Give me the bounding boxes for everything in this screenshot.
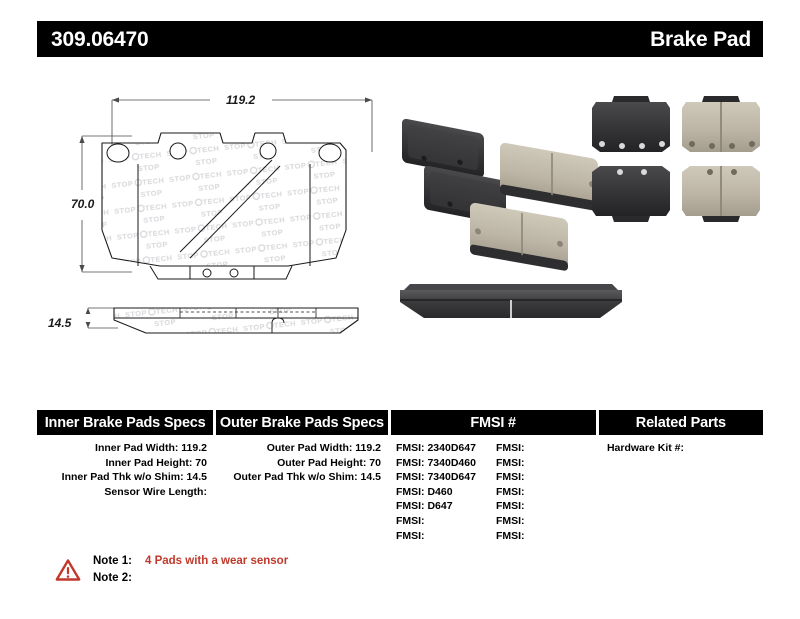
table-header-fmsi: FMSI # [391,410,596,435]
spec-item: Outer Pad Height: 70 [216,456,387,471]
note-2: Note 2: [93,570,288,587]
note-2-label: Note 2: [93,570,145,587]
part-number: 309.06470 [51,29,148,50]
thickness-dimension-label: 14.5 [45,316,74,330]
fmsi-item: FMSI: [496,441,596,456]
drawing-svg: STOP TECH STOP [40,80,390,370]
fmsi-item: FMSI: D647 [396,499,496,514]
table-header-row: Inner Brake Pads Specs Outer Brake Pads … [37,410,763,435]
spec-item: Inner Pad Thk w/o Shim: 14.5 [37,470,213,485]
table-header-outer-specs: Outer Brake Pads Specs [216,410,387,435]
product-photos [392,80,772,370]
thickness-dimension [86,308,118,328]
hardware-kit-item: Hardware Kit #: [599,441,763,456]
pad-side-view [114,308,358,333]
fmsi-item: FMSI: [396,514,496,529]
photo-angled-group [402,118,598,271]
fmsi-item: FMSI: [396,529,496,544]
fmsi-item: FMSI: [496,514,596,529]
note-row: Note 1: 4 Pads with a wear sensor Note 2… [55,552,475,587]
warning-triangle-icon [55,553,81,587]
fmsi-item: FMSI: [496,485,596,500]
fmsi-item: FMSI: [496,470,596,485]
pad-top-view [102,133,346,279]
note-1-value: 4 Pads with a wear sensor [145,553,288,570]
fmsi-item: FMSI: 7340D460 [396,456,496,471]
fmsi-item: FMSI: D460 [396,485,496,500]
fmsi-column-left: FMSI: 2340D647 FMSI: 7340D460 FMSI: 7340… [396,441,496,543]
photo-grid-group [592,96,760,222]
fmsi-cell: FMSI: 2340D647 FMSI: 7340D460 FMSI: 7340… [390,441,596,543]
fmsi-item: FMSI: [496,529,596,544]
related-parts-cell: Hardware Kit #: [599,441,763,543]
fmsi-item: FMSI: [496,499,596,514]
table-header-inner-specs: Inner Brake Pads Specs [37,410,213,435]
spec-item: Outer Pad Thk w/o Shim: 14.5 [216,470,387,485]
technical-drawing: STOP TECH STOP [40,80,390,370]
photos-svg [392,80,772,370]
spec-item: Outer Pad Width: 119.2 [216,441,387,456]
header-bar: 309.06470 Brake Pad [37,21,763,57]
note-1-label: Note 1: [93,553,145,570]
table-header-related-parts: Related Parts [599,410,763,435]
outer-specs-cell: Outer Pad Width: 119.2 Outer Pad Height:… [216,441,387,543]
spec-item: Inner Pad Width: 119.2 [37,441,213,456]
width-dimension-label: 119.2 [223,93,258,107]
note-texts: Note 1: 4 Pads with a wear sensor Note 2… [93,552,288,586]
fmsi-item: FMSI: 2340D647 [396,441,496,456]
notes-section: Note 1: 4 Pads with a wear sensor Note 2… [55,552,475,587]
inner-specs-cell: Inner Pad Width: 119.2 Inner Pad Height:… [37,441,213,543]
fmsi-column-right: FMSI: FMSI: FMSI: FMSI: FMSI: FMSI: FMSI… [496,441,596,543]
fmsi-item: FMSI: [496,456,596,471]
spec-item: Sensor Wire Length: [37,485,213,500]
page-title: Brake Pad [650,29,751,50]
photo-edge-view [400,284,622,318]
note-1: Note 1: 4 Pads with a wear sensor [93,553,288,570]
spec-item: Inner Pad Height: 70 [37,456,213,471]
table-body-row: Inner Pad Width: 119.2 Inner Pad Height:… [37,441,763,543]
height-dimension-label: 70.0 [68,197,97,211]
fmsi-item: FMSI: 7340D647 [396,470,496,485]
specification-table: Inner Brake Pads Specs Outer Brake Pads … [37,410,763,538]
fmsi-grid: FMSI: 2340D647 FMSI: 7340D460 FMSI: 7340… [390,441,596,543]
